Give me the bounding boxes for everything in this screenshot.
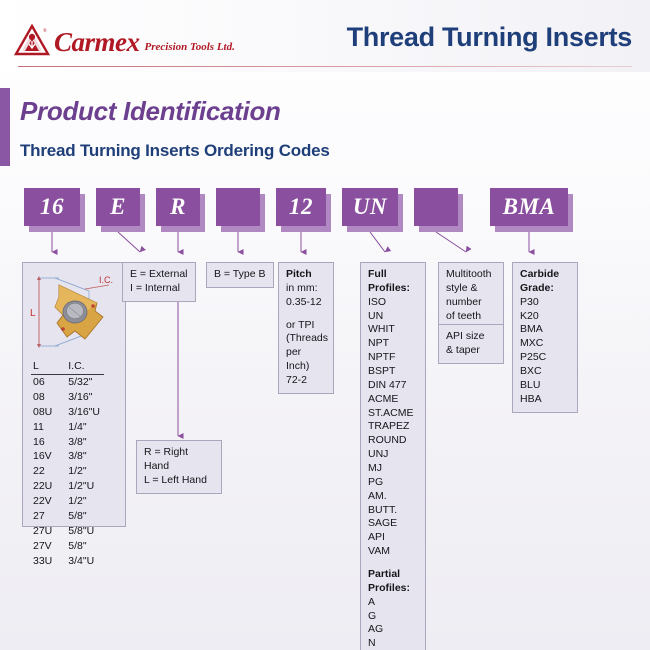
carbide-grade-item: P30 <box>520 296 570 310</box>
pitch-title: Pitch <box>286 268 312 280</box>
svg-text:L: L <box>30 308 36 319</box>
code-box-size[interactable]: 16 <box>24 188 80 226</box>
cell-l: 11 <box>31 420 56 435</box>
code-box-label: 12 <box>289 194 313 220</box>
partial-profiles-list: AGAGNQU <box>368 596 418 650</box>
code-box-direction[interactable] <box>216 188 260 226</box>
direction-line: L = Left Hand <box>144 474 214 488</box>
profiles-info-box: Full Profiles: ISOUNWHITNPTNPTFBSPTDIN 4… <box>360 262 426 650</box>
api-line: API size <box>446 330 496 344</box>
carbide-list: P30K20BMAMXCP25CBXCBLUHBA <box>520 296 570 407</box>
code-box-label: R <box>170 194 186 220</box>
cell-ic: 3/16"U <box>56 405 104 420</box>
carbide-grade-item: MXC <box>520 337 570 351</box>
table-row: 111/4" <box>31 420 104 435</box>
pitch-line: (Threads <box>286 332 326 346</box>
multitooth-line: Multitooth <box>446 268 496 282</box>
code-box-type[interactable]: R <box>156 188 200 226</box>
full-profile-item: DIN 477 <box>368 379 418 393</box>
cell-ic: 3/8" <box>56 449 104 464</box>
pitch-line: 72-2 <box>286 374 326 388</box>
section-subtitle: Thread Turning Inserts Ordering Codes <box>20 141 330 161</box>
cell-ic: 3/4"U <box>56 554 104 569</box>
page-root: ® Carmex Precision Tools Ltd. Thread Tur… <box>0 0 650 650</box>
size-spec-table: L I.C. 065/32"083/16"08U3/16"U111/4"163/… <box>31 359 104 569</box>
full-profiles-title: Profiles: <box>368 282 418 296</box>
logo-tagline: Precision Tools Ltd. <box>145 42 235 53</box>
full-profile-item: ROUND <box>368 434 418 448</box>
full-profile-item: MJ <box>368 462 418 476</box>
partial-profile-item: G <box>368 610 418 624</box>
code-box-profile[interactable]: UN <box>342 188 398 226</box>
svg-text:I.C.: I.C. <box>99 275 113 285</box>
thread-insert-icon: L I.C. <box>25 267 125 359</box>
carbide-grade-item: HBA <box>520 393 570 407</box>
cell-l: 27 <box>31 509 56 524</box>
cell-l: 22V <box>31 494 56 509</box>
cell-l: 08U <box>31 405 56 420</box>
pitch-info-box: Pitch in mm: 0.35-12 or TPI (Threads per… <box>278 262 334 394</box>
full-profile-item: ACME <box>368 393 418 407</box>
full-profile-item: AM. BUTT. <box>368 490 418 518</box>
table-row: 163/8" <box>31 435 104 450</box>
code-box-label: E <box>110 194 126 220</box>
partial-profiles-title: Profiles: <box>368 582 418 596</box>
cell-ic: 3/8" <box>56 435 104 450</box>
pitch-line: in mm: <box>286 282 326 296</box>
insert-dimension-box: L I.C. L I.C. 065/32"083/16"08U3/16"U111… <box>22 262 126 527</box>
cell-ic: 1/2"U <box>56 479 104 494</box>
section-title: Product Identification <box>20 96 281 127</box>
pitch-spacer <box>286 310 326 319</box>
hand-info-box: E = External I = Internal <box>122 262 196 302</box>
table-row: 27U5/8"U <box>31 524 104 539</box>
full-profile-item: BSPT <box>368 365 418 379</box>
pitch-line: or TPI <box>286 319 326 333</box>
cell-ic: 3/16" <box>56 390 104 405</box>
header-divider <box>18 66 632 67</box>
full-profile-item: ISO <box>368 296 418 310</box>
cell-l: 06 <box>31 374 56 389</box>
column-header-ic: I.C. <box>56 359 104 374</box>
full-profile-item: API <box>368 531 418 545</box>
cell-ic: 1/2" <box>56 464 104 479</box>
carbide-grade-item: BXC <box>520 365 570 379</box>
full-profile-item: UN <box>368 310 418 324</box>
multitooth-line: of teeth <box>446 310 496 324</box>
full-profile-item: UNJ <box>368 448 418 462</box>
carbide-grade-item: BMA <box>520 323 570 337</box>
cell-l: 22 <box>31 464 56 479</box>
pitch-line: per Inch) <box>286 346 326 374</box>
full-profile-item: NPTF <box>368 351 418 365</box>
code-box-label: 16 <box>40 194 64 220</box>
cell-l: 27V <box>31 539 56 554</box>
type-info-box: B = Type B <box>206 262 274 288</box>
hand-line: I = Internal <box>130 282 188 296</box>
table-header-row: L I.C. <box>31 359 104 374</box>
code-box-hand[interactable]: E <box>96 188 140 226</box>
table-row: 27V5/8" <box>31 539 104 554</box>
spec-table-body: 065/32"083/16"08U3/16"U111/4"163/8"16V3/… <box>31 374 104 568</box>
carbide-title: Grade: <box>520 282 570 296</box>
full-profile-item: SAGE <box>368 517 418 531</box>
table-row: 16V3/8" <box>31 449 104 464</box>
table-row: 221/2" <box>31 464 104 479</box>
carmex-logo: ® Carmex Precision Tools Ltd. <box>14 24 235 56</box>
full-profile-item: TRAPEZ <box>368 420 418 434</box>
multitooth-line: number <box>446 296 496 310</box>
cell-ic: 5/8"U <box>56 524 104 539</box>
hand-line: E = External <box>130 268 188 282</box>
table-row: 083/16" <box>31 390 104 405</box>
full-profile-item: WHIT <box>368 323 418 337</box>
table-row: 08U3/16"U <box>31 405 104 420</box>
cell-l: 16V <box>31 449 56 464</box>
carbide-title: Carbide <box>520 268 570 282</box>
pitch-line: 0.35-12 <box>286 296 326 310</box>
section-accent-bar <box>0 88 10 166</box>
direction-line: R = Right Hand <box>144 446 214 474</box>
cell-l: 08 <box>31 390 56 405</box>
carbide-grade-item: K20 <box>520 310 570 324</box>
code-box-multitooth[interactable] <box>414 188 458 226</box>
cell-l: 33U <box>31 554 56 569</box>
logo-wordmark: Carmex <box>54 29 140 56</box>
partial-profile-item: A <box>368 596 418 610</box>
full-profile-item: NPT <box>368 337 418 351</box>
direction-info-box: R = Right Hand L = Left Hand <box>136 440 222 494</box>
table-row: 22U1/2"U <box>31 479 104 494</box>
carbide-grade-item: P25C <box>520 351 570 365</box>
code-box-pitch[interactable]: 12 <box>276 188 326 226</box>
cell-ic: 1/4" <box>56 420 104 435</box>
full-profiles-title: Full <box>368 268 418 282</box>
table-row: 33U3/4"U <box>31 554 104 569</box>
cell-ic: 1/2" <box>56 494 104 509</box>
cell-ic: 5/8" <box>56 539 104 554</box>
cell-ic: 5/32" <box>56 374 104 389</box>
cell-l: 22U <box>31 479 56 494</box>
column-header-l: L <box>31 359 56 374</box>
partial-profile-item: N <box>368 637 418 650</box>
multitooth-info-box: Multitooth style & number of teeth <box>438 262 504 329</box>
partial-profiles-title: Partial <box>368 568 418 582</box>
page-header: ® Carmex Precision Tools Ltd. Thread Tur… <box>0 0 650 72</box>
page-title: Thread Turning Inserts <box>347 22 632 53</box>
cell-l: 16 <box>31 435 56 450</box>
cell-l: 27U <box>31 524 56 539</box>
api-info-box: API size & taper <box>438 324 504 364</box>
partial-profile-item: AG <box>368 623 418 637</box>
carbide-info-box: Carbide Grade: P30K20BMAMXCP25CBXCBLUHBA <box>512 262 578 413</box>
full-profiles-list: ISOUNWHITNPTNPTFBSPTDIN 477ACMEST.ACMETR… <box>368 296 418 559</box>
carbide-grade-item: BLU <box>520 379 570 393</box>
table-row: 22V1/2" <box>31 494 104 509</box>
type-line: B = Type B <box>214 268 266 282</box>
cell-ic: 5/8" <box>56 509 104 524</box>
profiles-spacer <box>368 559 418 568</box>
code-box-carbide[interactable]: BMA <box>490 188 568 226</box>
full-profile-item: ST.ACME <box>368 407 418 421</box>
table-row: 065/32" <box>31 374 104 389</box>
api-line: & taper <box>446 344 496 358</box>
carmex-triangle-logo-icon: ® <box>14 24 50 56</box>
table-row: 275/8" <box>31 509 104 524</box>
multitooth-line: style & <box>446 282 496 296</box>
code-box-label: UN <box>353 194 387 220</box>
code-box-label: BMA <box>503 194 556 220</box>
svg-text:®: ® <box>43 28 47 34</box>
full-profile-item: PG <box>368 476 418 490</box>
full-profile-item: VAM <box>368 545 418 559</box>
